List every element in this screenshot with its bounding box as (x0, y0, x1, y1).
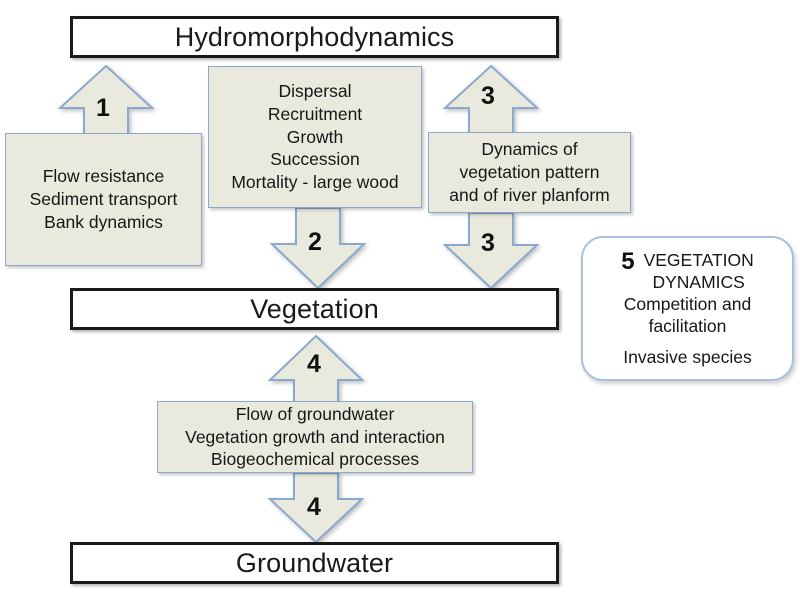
callout-line-3: Invasive species (623, 346, 751, 368)
dispersal-box[interactable]: Dispersal Recruitment Growth Succession … (208, 66, 422, 208)
entity-vegetation-label: Vegetation (250, 296, 379, 323)
arrow-3-up (443, 64, 539, 140)
groundwater-flow-line-2: Vegetation growth and interaction (185, 426, 445, 449)
flow-resistance-box[interactable]: Flow resistance Sediment transport Bank … (5, 133, 202, 266)
flow-resistance-line-2: Sediment transport (30, 188, 178, 211)
entity-groundwater[interactable]: Groundwater (70, 542, 559, 584)
callout-number: 5 (621, 249, 634, 274)
dynamics-of-vegetation-pattern-box[interactable]: Dynamics of vegetation pattern and of ri… (428, 132, 631, 213)
vegetation-dynamics-callout[interactable]: 5 VEGETATION DYNAMICS Competition and fa… (581, 236, 794, 381)
arrow-4-down (268, 471, 364, 544)
diagram-canvas: Hydromorphodynamics 1 Flow resistance Se… (0, 0, 800, 600)
groundwater-flow-line-3: Biogeochemical processes (211, 448, 419, 471)
dispersal-line-2: Recruitment (268, 103, 362, 126)
entity-hydromorphodynamics-label: Hydromorphodynamics (175, 24, 455, 51)
entity-hydromorphodynamics[interactable]: Hydromorphodynamics (70, 16, 559, 58)
flow-resistance-line-1: Flow resistance (43, 165, 165, 188)
dynamics-pattern-line-3: and of river planform (449, 184, 610, 207)
arrow-3-down (443, 211, 539, 290)
arrow-2-down (270, 206, 366, 290)
dispersal-line-1: Dispersal (279, 80, 352, 103)
groundwater-flow-line-1: Flow of groundwater (236, 403, 395, 426)
entity-vegetation[interactable]: Vegetation (70, 288, 559, 330)
flow-resistance-line-3: Bank dynamics (44, 211, 163, 234)
dispersal-line-5: Mortality - large wood (231, 171, 398, 194)
callout-heading-line-2: DYNAMICS (652, 271, 744, 293)
flow-of-groundwater-box[interactable]: Flow of groundwater Vegetation growth an… (157, 401, 473, 473)
arrow-1-up (58, 64, 154, 140)
entity-groundwater-label: Groundwater (236, 550, 393, 577)
dynamics-pattern-line-2: vegetation pattern (459, 161, 599, 184)
callout-line-2: facilitation (649, 315, 727, 337)
callout-line-1: Competition and (624, 293, 751, 315)
dispersal-line-3: Growth (287, 126, 343, 149)
dynamics-pattern-line-1: Dynamics of (481, 138, 577, 161)
callout-heading-line-1: VEGETATION (644, 249, 754, 271)
dispersal-line-4: Succession (270, 148, 360, 171)
callout-heading: 5 VEGETATION DYNAMICS (621, 249, 754, 293)
arrow-4-up (268, 334, 364, 406)
